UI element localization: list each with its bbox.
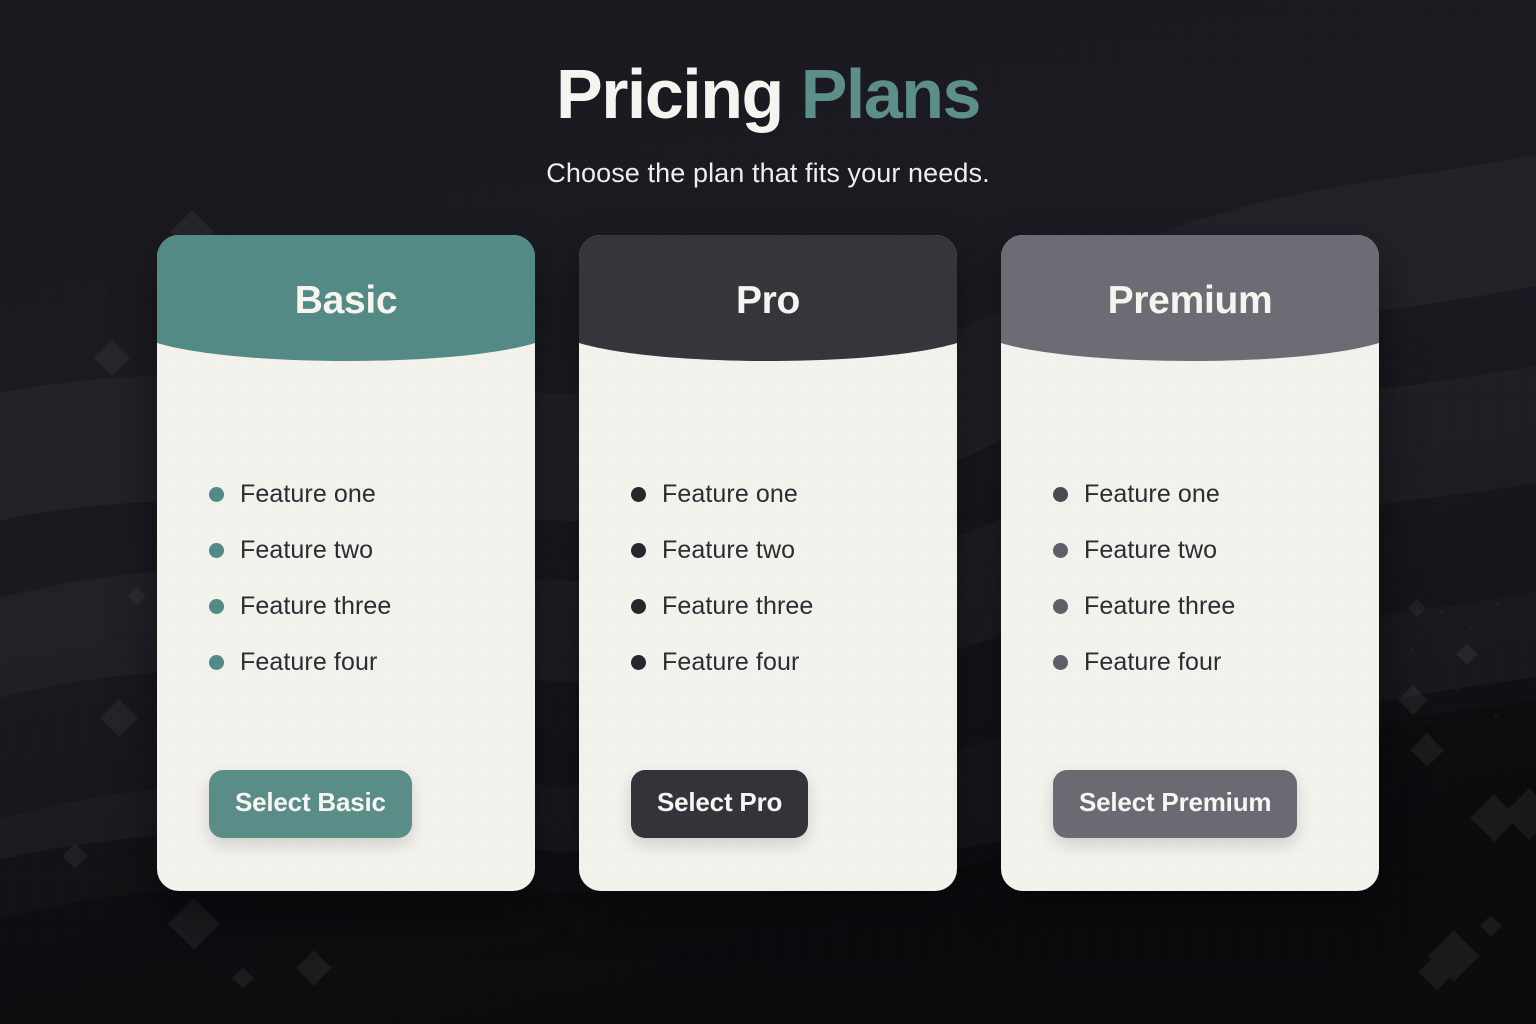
list-item: Feature four — [631, 635, 915, 691]
list-item: Feature one — [209, 467, 493, 523]
feature-label: Feature three — [662, 592, 813, 621]
list-item: Feature two — [631, 523, 915, 579]
feature-list-premium: Feature oneFeature twoFeature threeFeatu… — [1053, 467, 1337, 691]
list-item: Feature three — [209, 579, 493, 635]
bullet-icon — [209, 655, 224, 670]
list-item: Feature four — [209, 635, 493, 691]
list-item: Feature two — [209, 523, 493, 579]
feature-label: Feature one — [240, 480, 376, 509]
feature-label: Feature one — [1084, 480, 1220, 509]
list-item: Feature one — [1053, 467, 1337, 523]
card-title-basic: Basic — [157, 279, 535, 323]
card-body-premium: Feature oneFeature twoFeature threeFeatu… — [1001, 363, 1379, 891]
list-item: Feature four — [1053, 635, 1337, 691]
select-premium-button[interactable]: Select Premium — [1053, 770, 1297, 838]
pricing-card-basic: BasicFeature oneFeature twoFeature three… — [157, 235, 535, 891]
select-basic-button[interactable]: Select Basic — [209, 770, 412, 838]
feature-label: Feature three — [1084, 592, 1235, 621]
card-title-pro: Pro — [579, 279, 957, 323]
pricing-card-premium: PremiumFeature oneFeature twoFeature thr… — [1001, 235, 1379, 891]
list-item: Feature three — [1053, 579, 1337, 635]
feature-label: Feature two — [1084, 536, 1217, 565]
bullet-icon — [209, 487, 224, 502]
card-header-premium: Premium — [1001, 235, 1379, 363]
list-item: Feature three — [631, 579, 915, 635]
bullet-icon — [209, 599, 224, 614]
feature-label: Feature three — [240, 592, 391, 621]
card-body-pro: Feature oneFeature twoFeature threeFeatu… — [579, 363, 957, 891]
bullet-icon — [631, 543, 646, 558]
list-item: Feature one — [631, 467, 915, 523]
bullet-icon — [631, 655, 646, 670]
bullet-icon — [1053, 599, 1068, 614]
feature-list-basic: Feature oneFeature twoFeature threeFeatu… — [209, 467, 493, 691]
page-title-primary: Pricing — [556, 55, 783, 133]
bullet-icon — [1053, 655, 1068, 670]
card-header-pro: Pro — [579, 235, 957, 363]
bullet-icon — [1053, 487, 1068, 502]
pricing-page: Pricing Plans Choose the plan that fits … — [0, 0, 1536, 1024]
list-item: Feature two — [1053, 523, 1337, 579]
pricing-card-list: BasicFeature oneFeature twoFeature three… — [157, 235, 1379, 891]
select-pro-button[interactable]: Select Pro — [631, 770, 808, 838]
feature-list-pro: Feature oneFeature twoFeature threeFeatu… — [631, 467, 915, 691]
bullet-icon — [631, 599, 646, 614]
card-header-basic: Basic — [157, 235, 535, 363]
feature-label: Feature four — [240, 648, 377, 677]
bullet-icon — [209, 543, 224, 558]
page-title: Pricing Plans — [556, 58, 980, 132]
card-body-basic: Feature oneFeature twoFeature threeFeatu… — [157, 363, 535, 891]
page-subtitle: Choose the plan that fits your needs. — [546, 158, 989, 189]
bullet-icon — [631, 487, 646, 502]
card-title-premium: Premium — [1001, 279, 1379, 323]
feature-label: Feature four — [1084, 648, 1221, 677]
feature-label: Feature two — [240, 536, 373, 565]
feature-label: Feature one — [662, 480, 798, 509]
feature-label: Feature four — [662, 648, 799, 677]
bullet-icon — [1053, 543, 1068, 558]
page-title-accent: Plans — [801, 55, 980, 133]
pricing-card-pro: ProFeature oneFeature twoFeature threeFe… — [579, 235, 957, 891]
feature-label: Feature two — [662, 536, 795, 565]
